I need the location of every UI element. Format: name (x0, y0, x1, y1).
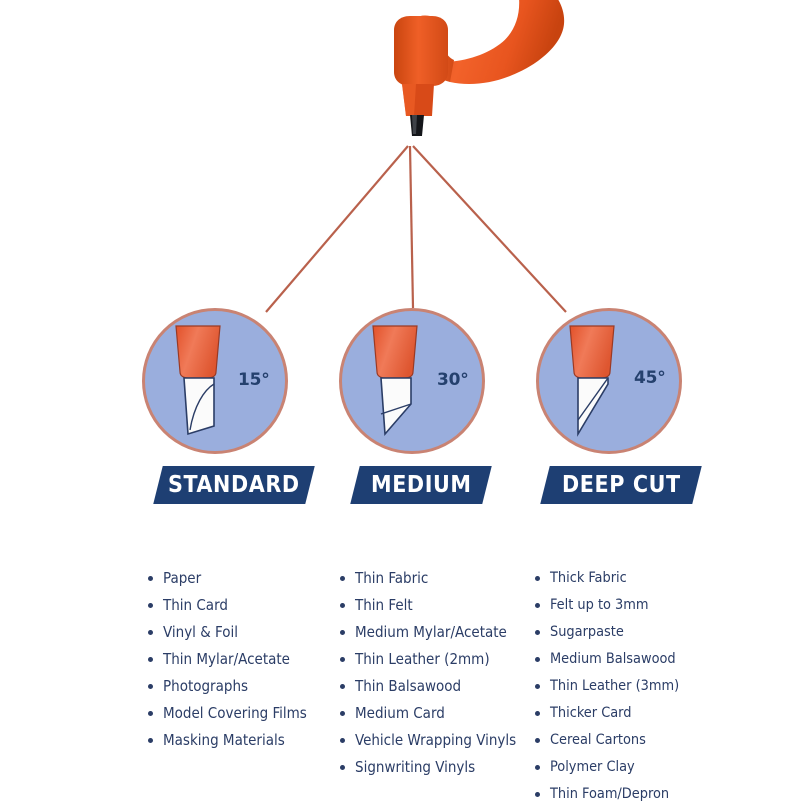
material-list-item: Vehicle Wrapping Vinyls (340, 727, 540, 754)
banner-label-medium: MEDIUM (371, 472, 472, 498)
material-list-item: Paper (148, 565, 338, 592)
knife-illustration (350, 0, 620, 154)
material-list-item: Thin Felt (340, 592, 540, 619)
material-list-item: Polymer Clay (535, 754, 745, 781)
material-list-item: Thin Leather (2mm) (340, 646, 540, 673)
material-list-item: Medium Mylar/Acetate (340, 619, 540, 646)
connector-line-right (413, 146, 566, 312)
material-list-item: Felt up to 3mm (535, 592, 745, 619)
blade-holder-45 (570, 326, 614, 378)
craft-knife-tool (350, 0, 620, 154)
connector-line-left (266, 146, 408, 312)
material-list-item: Thin Leather (3mm) (535, 673, 745, 700)
banner-standard[interactable]: STANDARD (153, 466, 314, 504)
material-list-item: Thin Foam/Depron (535, 781, 745, 808)
infographic-canvas: 15° 30° (0, 0, 800, 800)
material-list-item: Sugarpaste (535, 619, 745, 646)
blade-node-medium[interactable]: 30° (339, 308, 491, 460)
material-list-item: Cereal Cartons (535, 727, 745, 754)
material-list-item: Thin Fabric (340, 565, 540, 592)
materials-column-standard: PaperThin CardVinyl & FoilThin Mylar/Ace… (148, 565, 338, 754)
material-list-item: Model Covering Films (148, 700, 338, 727)
blade-node-standard[interactable]: 15° (142, 308, 294, 460)
blade-holder-15 (176, 326, 220, 378)
material-list-item: Thin Mylar/Acetate (148, 646, 338, 673)
blade-holder-30 (373, 326, 417, 378)
materials-list-standard: PaperThin CardVinyl & FoilThin Mylar/Ace… (148, 565, 338, 754)
materials-column-deep-cut: Thick FabricFelt up to 3mmSugarpasteMedi… (535, 565, 745, 808)
material-list-item: Photographs (148, 673, 338, 700)
material-list-item: Medium Balsawood (535, 646, 745, 673)
materials-list-medium: Thin FabricThin FeltMedium Mylar/Acetate… (340, 565, 540, 781)
angle-label-deep-cut: 45° (634, 368, 666, 388)
connector-line-center (410, 146, 413, 308)
blade-illustration-15 (142, 308, 294, 460)
angle-label-standard: 15° (238, 370, 270, 390)
material-list-item: Medium Card (340, 700, 540, 727)
materials-list-deep-cut: Thick FabricFelt up to 3mmSugarpasteMedi… (535, 565, 745, 808)
blade-tip (410, 115, 424, 136)
material-list-item: Thicker Card (535, 700, 745, 727)
blade-node-deep-cut[interactable]: 45° (536, 308, 688, 460)
handle-upper (442, 0, 564, 84)
banner-label-standard: STANDARD (168, 472, 300, 498)
banner-label-deep-cut: DEEP CUT (562, 472, 681, 498)
blade-diagram-row: 15° 30° (0, 308, 800, 468)
materials-lists: PaperThin CardVinyl & FoilThin Mylar/Ace… (0, 565, 800, 800)
materials-column-medium: Thin FabricThin FeltMedium Mylar/Acetate… (340, 565, 540, 781)
banner-deep-cut[interactable]: DEEP CUT (540, 466, 701, 504)
banner-row: STANDARD MEDIUM DEEP CUT (0, 466, 800, 510)
blade-body-15 (184, 378, 214, 434)
material-list-item: Thin Card (148, 592, 338, 619)
material-list-item: Signwriting Vinyls (340, 754, 540, 781)
angle-label-medium: 30° (437, 370, 469, 390)
banner-medium[interactable]: MEDIUM (350, 466, 491, 504)
chuck-highlight (402, 84, 416, 116)
material-list-item: Thick Fabric (535, 565, 745, 592)
handle-collar (394, 16, 448, 86)
material-list-item: Masking Materials (148, 727, 338, 754)
material-list-item: Thin Balsawood (340, 673, 540, 700)
material-list-item: Vinyl & Foil (148, 619, 338, 646)
blade-body-45 (578, 378, 608, 434)
